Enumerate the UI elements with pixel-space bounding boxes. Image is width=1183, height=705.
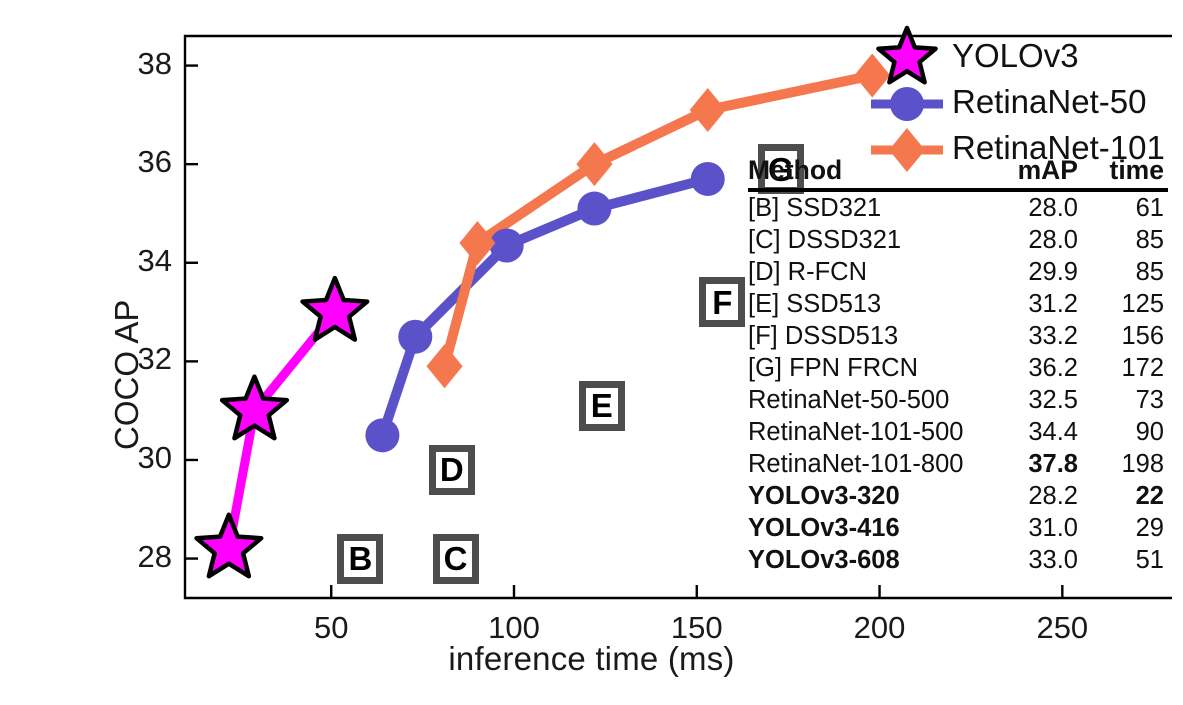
cell-time: 22 bbox=[1094, 480, 1168, 512]
data-point bbox=[365, 418, 399, 452]
table-row: [C] DSSD32128.085 bbox=[748, 224, 1168, 256]
table-row: RetinaNet-50-50032.573 bbox=[748, 384, 1168, 416]
table-row: RetinaNet-101-80037.8198 bbox=[748, 448, 1168, 480]
cell-map: 37.8 bbox=[992, 448, 1094, 480]
header-map: mAP bbox=[992, 155, 1094, 190]
table-body: [B] SSD32128.061[C] DSSD32128.085[D] R-F… bbox=[748, 190, 1168, 576]
cell-time: 172 bbox=[1094, 352, 1168, 384]
cell-time: 51 bbox=[1094, 544, 1168, 576]
data-point bbox=[576, 142, 612, 186]
figure-root: COCO AP inference time (ms) 501001502002… bbox=[0, 0, 1183, 705]
cell-map: 36.2 bbox=[992, 352, 1094, 384]
cell-map: 32.5 bbox=[992, 384, 1094, 416]
y-tick-label: 36 bbox=[90, 144, 172, 180]
cell-map: 34.4 bbox=[992, 416, 1094, 448]
x-tick-label: 150 bbox=[647, 610, 747, 646]
cell-time: 198 bbox=[1094, 448, 1168, 480]
cell-method: RetinaNet-101-500 bbox=[748, 416, 992, 448]
x-axis-label: inference time (ms) bbox=[0, 640, 1183, 678]
table-row: [D] R-FCN29.985 bbox=[748, 256, 1168, 288]
legend-label: YOLOv3 bbox=[952, 37, 1079, 75]
cell-method: YOLOv3-608 bbox=[748, 544, 992, 576]
table-header-row: Method mAP time bbox=[748, 155, 1168, 190]
annotation-box-f: F bbox=[699, 277, 745, 327]
legend-marker-circle bbox=[890, 87, 924, 121]
cell-method: RetinaNet-101-800 bbox=[748, 448, 992, 480]
table-row: RetinaNet-101-50034.490 bbox=[748, 416, 1168, 448]
annotation-box-e: E bbox=[579, 381, 625, 431]
header-method: Method bbox=[748, 155, 992, 190]
cell-method: RetinaNet-50-500 bbox=[748, 384, 992, 416]
table-row: YOLOv3-32028.222 bbox=[748, 480, 1168, 512]
cell-map: 33.2 bbox=[992, 320, 1094, 352]
data-point bbox=[427, 344, 463, 388]
annotation-box-b: B bbox=[337, 534, 383, 584]
cell-time: 85 bbox=[1094, 256, 1168, 288]
x-tick-label: 250 bbox=[1012, 610, 1112, 646]
cell-time: 29 bbox=[1094, 512, 1168, 544]
data-point bbox=[303, 278, 368, 340]
x-tick-label: 200 bbox=[830, 610, 930, 646]
cell-time: 73 bbox=[1094, 384, 1168, 416]
table-row: YOLOv3-41631.029 bbox=[748, 512, 1168, 544]
data-point bbox=[577, 192, 611, 226]
header-time: time bbox=[1094, 155, 1168, 190]
cell-time: 125 bbox=[1094, 288, 1168, 320]
y-tick-label: 34 bbox=[90, 243, 172, 279]
cell-time: 90 bbox=[1094, 416, 1168, 448]
cell-time: 85 bbox=[1094, 224, 1168, 256]
cell-method: [G] FPN FRCN bbox=[748, 352, 992, 384]
cell-method: [F] DSSD513 bbox=[748, 320, 992, 352]
cell-method: [C] DSSD321 bbox=[748, 224, 992, 256]
data-point bbox=[854, 53, 890, 97]
cell-method: [D] R-FCN bbox=[748, 256, 992, 288]
data-point bbox=[691, 162, 725, 196]
cell-time: 61 bbox=[1094, 190, 1168, 224]
legend-label: RetinaNet-50 bbox=[952, 83, 1146, 121]
x-tick-label: 100 bbox=[464, 610, 564, 646]
cell-method: [E] SSD513 bbox=[748, 288, 992, 320]
annotation-box-c: C bbox=[433, 534, 479, 584]
cell-map: 28.0 bbox=[992, 190, 1094, 224]
y-tick-label: 38 bbox=[90, 46, 172, 82]
cell-map: 33.0 bbox=[992, 544, 1094, 576]
cell-map: 29.9 bbox=[992, 256, 1094, 288]
cell-method: [B] SSD321 bbox=[748, 190, 992, 224]
data-point bbox=[398, 320, 432, 354]
data-point bbox=[490, 229, 524, 263]
x-tick-label: 50 bbox=[281, 610, 381, 646]
table-row: [G] FPN FRCN36.2172 bbox=[748, 352, 1168, 384]
annotation-box-d: D bbox=[429, 445, 475, 495]
table-row: YOLOv3-60833.051 bbox=[748, 544, 1168, 576]
data-point bbox=[197, 515, 262, 577]
cell-method: YOLOv3-416 bbox=[748, 512, 992, 544]
results-table: Method mAP time [B] SSD32128.061[C] DSSD… bbox=[748, 155, 1168, 576]
cell-map: 31.0 bbox=[992, 512, 1094, 544]
data-point bbox=[690, 88, 726, 132]
cell-map: 28.2 bbox=[992, 480, 1094, 512]
y-tick-label: 30 bbox=[90, 440, 172, 476]
table-row: [E] SSD51331.2125 bbox=[748, 288, 1168, 320]
y-tick-label: 28 bbox=[90, 539, 172, 575]
table-row: [F] DSSD51333.2156 bbox=[748, 320, 1168, 352]
legend-markers bbox=[871, 28, 943, 172]
cell-method: YOLOv3-320 bbox=[748, 480, 992, 512]
cell-map: 31.2 bbox=[992, 288, 1094, 320]
y-tick-label: 32 bbox=[90, 341, 172, 377]
cell-map: 28.0 bbox=[992, 224, 1094, 256]
table-row: [B] SSD32128.061 bbox=[748, 190, 1168, 224]
cell-time: 156 bbox=[1094, 320, 1168, 352]
